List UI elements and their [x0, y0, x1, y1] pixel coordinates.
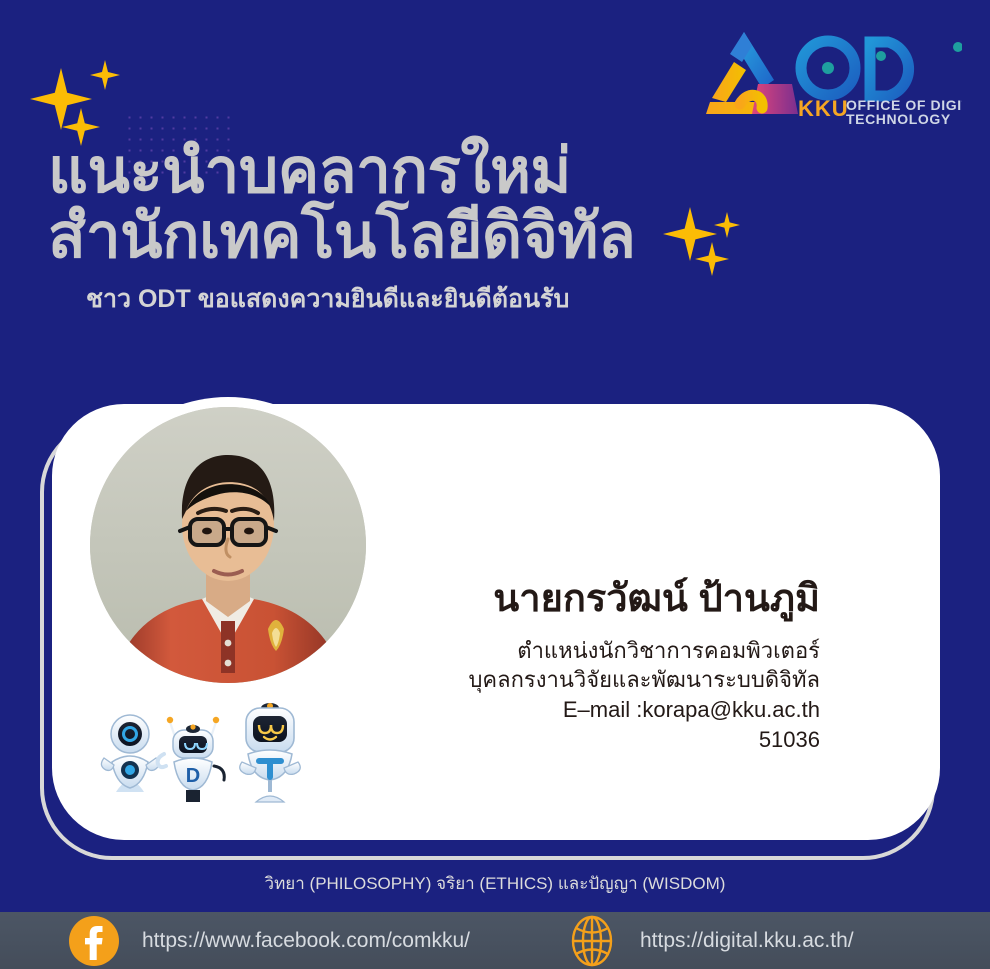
avatar-frame	[80, 397, 376, 693]
robot-t	[240, 703, 301, 802]
tagline: วิทยา (PHILOSOPHY) จริยา (ETHICS) และปัญ…	[0, 870, 990, 897]
person-position: ตำแหน่งนักวิชาการคอมพิวเตอร์	[400, 636, 820, 666]
headline-block: แนะนำบคลากรใหม่ สำนักเทคโนโลยีดิจิทัล	[48, 140, 688, 268]
person-info: นายกรวัฒน์ ป้านภูมิ ตำแหน่งนักวิชาการคอม…	[400, 578, 820, 754]
person-meta: ตำแหน่งนักวิชาการคอมพิวเตอร์ บุคลกรงานวิ…	[400, 636, 820, 755]
website-link[interactable]: https://digital.kku.ac.th/	[566, 915, 854, 967]
website-url[interactable]: https://digital.kku.ac.th/	[640, 929, 854, 953]
person-name: นายกรวัฒน์ ป้านภูมิ	[400, 578, 820, 622]
person-phone: 51036	[400, 725, 820, 755]
svg-text:TECHNOLOGY: TECHNOLOGY	[846, 111, 951, 127]
robot-o	[101, 715, 158, 792]
robot-d: D	[158, 717, 225, 802]
sparkle-star-small-left	[90, 60, 120, 90]
footer-bar: https://www.facebook.com/comkku/ https:/…	[0, 912, 990, 969]
person-email: E–mail :korapa@kku.ac.th	[400, 695, 820, 725]
sparkle-star-medium-right	[695, 242, 729, 276]
sparkle-star-small-right	[714, 212, 740, 238]
facebook-link[interactable]: https://www.facebook.com/comkku/	[68, 915, 470, 967]
facebook-icon[interactable]	[68, 915, 120, 967]
avatar	[90, 407, 366, 683]
headline-line-2: สำนักเทคโนโลยีดิจิทัล	[48, 205, 688, 268]
globe-icon[interactable]	[566, 915, 618, 967]
svg-text:D: D	[186, 765, 200, 787]
poster-canvas: KKU OFFICE OF DIGITAL TECHNOLOGY แนะนำบค…	[0, 0, 990, 969]
svg-text:KKU: KKU	[798, 96, 849, 121]
subheadline: ชาว ODT ขอแสดงความยินดีและยินดีต้อนรับ	[86, 279, 569, 319]
robot-mascots: D	[100, 692, 310, 807]
facebook-url[interactable]: https://www.facebook.com/comkku/	[142, 929, 470, 953]
person-unit: บุคลกรงานวิจัยและพัฒนาระบบดิจิทัล	[400, 665, 820, 695]
headline-line-1: แนะนำบคลากรใหม่	[48, 140, 688, 203]
odt-kku-logo: KKU OFFICE OF DIGITAL TECHNOLOGY	[694, 24, 962, 132]
